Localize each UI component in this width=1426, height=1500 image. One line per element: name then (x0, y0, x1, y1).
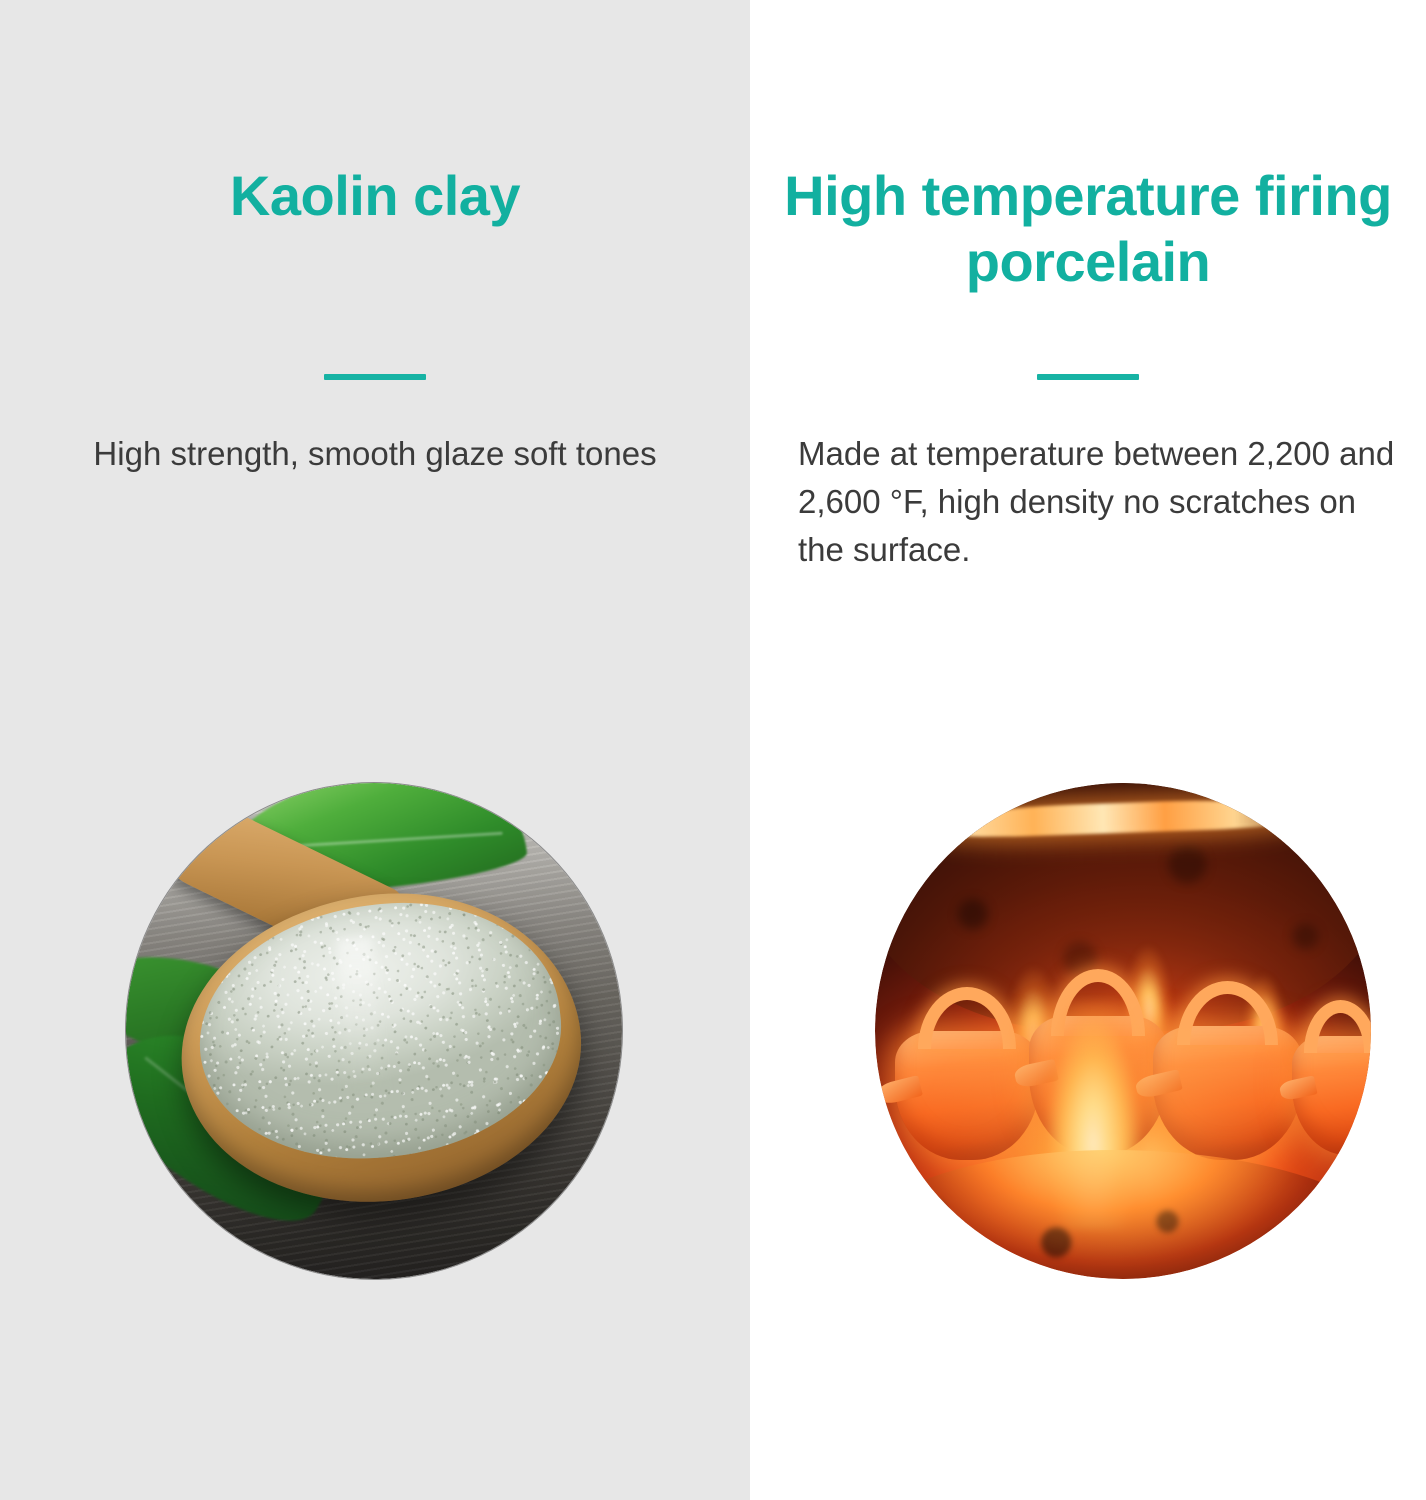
panel-body-kaolin-clay: High strength, smooth glaze soft tones (0, 430, 750, 478)
photo-kiln-firing-inner (875, 783, 1371, 1279)
photo-kaolin-clay-inner (126, 783, 622, 1279)
panel-body-high-temperature-firing: Made at temperature between 2,200 and 2,… (750, 430, 1426, 574)
kiln-ember-floor (875, 1150, 1371, 1279)
panel-kaolin-clay: Kaolin clay High strength, smooth glaze … (0, 0, 750, 1500)
photo-kiln-firing (875, 783, 1371, 1279)
heading-rule-wrapper-left (0, 374, 750, 380)
heading-rule-wrapper-right (750, 374, 1426, 380)
panel-heading-kaolin-clay: Kaolin clay (0, 163, 750, 229)
glowing-teapot-4 (1292, 1036, 1371, 1155)
heading-divider-rule (324, 374, 426, 380)
panel-heading-high-temperature-firing: High temperature firing porcelain (750, 163, 1426, 295)
glowing-teapot-3 (1153, 1026, 1302, 1160)
clay-scene-background (126, 783, 622, 1279)
heading-divider-rule (1037, 374, 1139, 380)
product-feature-infographic: Kaolin clay High strength, smooth glaze … (0, 0, 1426, 1500)
teapot-spout (876, 1075, 923, 1105)
panel-high-temperature-firing: High temperature firing porcelain Made a… (750, 0, 1426, 1500)
glowing-teapot-1 (895, 1031, 1039, 1160)
photo-kaolin-clay (126, 783, 622, 1279)
kiln-scene-background (875, 783, 1371, 1279)
